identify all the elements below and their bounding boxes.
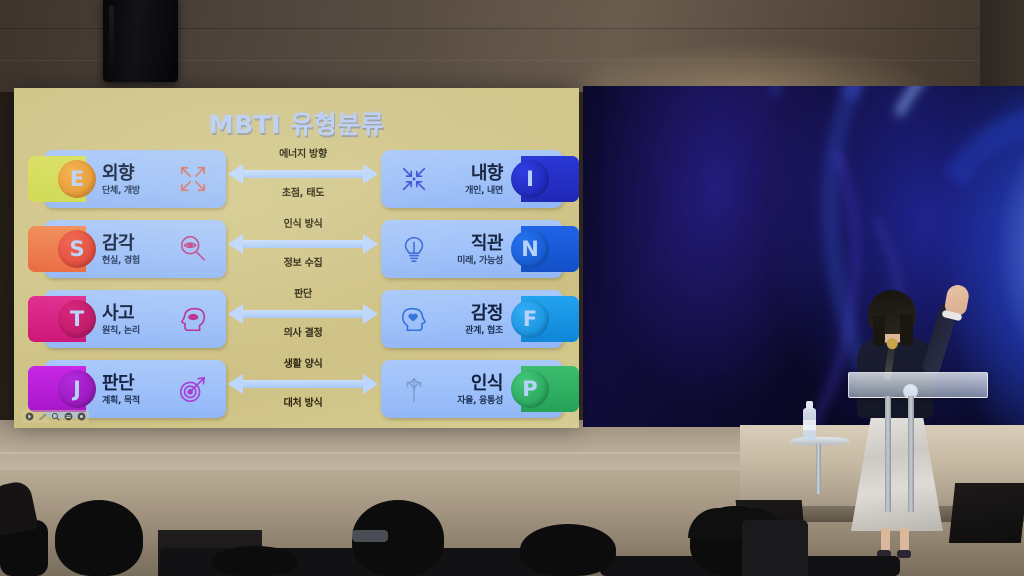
screenshot-root: MBTI 유형분류 E 외향 단체, 개방 (0, 0, 1024, 576)
center-label-bottom: 의사 결정 (228, 324, 378, 339)
badge-letter-i: I (511, 160, 549, 198)
mbti-row: E 외향 단체, 개방 에너지 방향 (14, 146, 579, 212)
center-label-top: 판단 (228, 286, 378, 300)
projected-slide[interactable]: MBTI 유형분류 E 외향 단체, 개방 (14, 88, 579, 428)
double-arrow (228, 163, 378, 184)
card-subtitle: 현실, 경험 (102, 253, 140, 266)
target-dart-icon (178, 374, 208, 404)
badge-letter-n: N (511, 230, 549, 268)
card-left-s[interactable]: S 감각 현실, 경험 (44, 220, 226, 278)
presenter-skirt (851, 415, 943, 531)
presentation-toolbar[interactable] (22, 410, 89, 423)
badge-letter-p: P (511, 370, 549, 408)
center-label-top: 생활 양식 (228, 356, 378, 370)
side-table-stem (816, 444, 821, 494)
slide-title: MBTI 유형분류 (14, 105, 579, 141)
audience-head (212, 546, 298, 576)
lectern-stem (885, 396, 891, 512)
lectern-stem (908, 396, 914, 512)
zoom-tool-icon[interactable] (51, 412, 60, 421)
head-heart-icon (399, 304, 429, 334)
badge-letter-e: E (58, 160, 96, 198)
pointer-tool-icon[interactable] (25, 412, 34, 421)
card-right-n[interactable]: N 직관 미래, 가능성 (381, 220, 563, 278)
card-title: 내향 (471, 159, 503, 185)
center-label-bottom: 정보 수집 (228, 254, 378, 269)
collapse-arrows-icon (399, 164, 429, 194)
mbti-row: T 사고 원칙, 논리 판단 의사 결정 (14, 286, 579, 352)
card-subtitle: 단체, 개방 (102, 183, 140, 196)
badge-letter-s: S (58, 230, 96, 268)
stage-monitor (949, 483, 1024, 543)
acrylic-lectern (848, 372, 988, 398)
card-right-f[interactable]: F 감정 관계, 협조 (381, 290, 563, 348)
magnifier-eye-icon (178, 234, 208, 264)
wall-column-right (980, 0, 1024, 92)
double-arrow (228, 373, 378, 394)
mbti-row: J 판단 계획, 목적 생활 양식 (14, 356, 579, 422)
more-options-icon[interactable] (64, 412, 73, 421)
card-title: 감정 (471, 299, 503, 325)
card-left-e[interactable]: E 외향 단체, 개방 (44, 150, 226, 208)
center-label-bottom: 초점, 태도 (228, 184, 378, 199)
card-title: 인식 (471, 369, 503, 395)
card-subtitle: 자율, 융통성 (457, 393, 503, 406)
badge-letter-j: J (58, 370, 96, 408)
presenter-shoe (897, 550, 911, 558)
audience-head (55, 500, 143, 576)
card-title: 외향 (102, 159, 134, 185)
badge-letter-t: T (58, 300, 96, 338)
head-brain-icon (178, 304, 208, 334)
branching-arrows-icon (399, 374, 429, 404)
presenter-hair (868, 290, 916, 334)
card-subtitle: 개인, 내면 (465, 183, 503, 196)
card-title: 직관 (471, 229, 503, 255)
card-title: 판단 (102, 369, 134, 395)
divider-judgement: 판단 의사 결정 (228, 286, 378, 352)
badge-letter-f: F (511, 300, 549, 338)
card-subtitle: 미래, 가능성 (457, 253, 503, 266)
card-title: 사고 (102, 299, 134, 325)
lightbulb-icon (399, 234, 429, 264)
divider-lifestyle: 생활 양식 대처 방식 (228, 356, 378, 422)
water-bottle (803, 408, 816, 440)
ceiling-speaker (103, 0, 178, 82)
expand-arrows-icon (178, 164, 208, 194)
center-label-bottom: 대처 방식 (228, 394, 378, 409)
card-right-p[interactable]: P 인식 자율, 융통성 (381, 360, 563, 418)
audience-head (520, 524, 616, 576)
pen-tool-icon[interactable] (38, 412, 47, 421)
audience-glasses (352, 530, 388, 542)
card-subtitle: 관계, 협조 (465, 323, 503, 336)
center-label-top: 에너지 방향 (228, 146, 378, 160)
card-subtitle: 원칙, 논리 (102, 323, 140, 336)
audience-chair (742, 520, 808, 576)
card-right-i[interactable]: I 내향 개인, 내면 (381, 150, 563, 208)
card-title: 감각 (102, 229, 134, 255)
card-left-t[interactable]: T 사고 원칙, 논리 (44, 290, 226, 348)
divider-energy-direction: 에너지 방향 초점, 태도 (228, 146, 378, 212)
double-arrow (228, 233, 378, 254)
mbti-row: S 감각 현실, 경험 인식 방식 (14, 216, 579, 282)
menu-icon[interactable] (77, 412, 86, 421)
center-label-top: 인식 방식 (228, 216, 378, 230)
mbti-rows: E 외향 단체, 개방 에너지 방향 (14, 146, 579, 426)
card-subtitle: 계획, 목적 (102, 393, 140, 406)
divider-perception-style: 인식 방식 정보 수집 (228, 216, 378, 282)
double-arrow (228, 303, 378, 324)
